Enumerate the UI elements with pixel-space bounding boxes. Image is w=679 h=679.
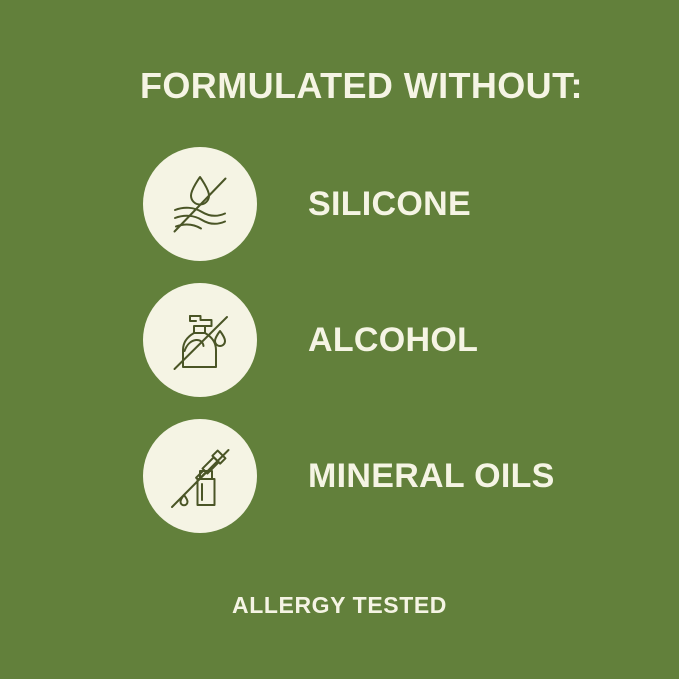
claim-label-mineral-oils: MINERAL OILS (308, 457, 555, 496)
claim-label-alcohol: ALCOHOL (308, 321, 478, 360)
page-title: FORMULATED WITHOUT: (140, 66, 583, 106)
no-silicone-icon (163, 167, 237, 241)
claim-row-silicone: SILICONE (143, 147, 623, 261)
no-mineral-oils-badge (143, 419, 257, 533)
claim-row-alcohol: ALCOHOL (143, 283, 623, 397)
allergy-tested-note: ALLERGY TESTED (0, 592, 679, 619)
claim-row-mineral-oils: MINERAL OILS (143, 419, 623, 533)
no-alcohol-icon (163, 303, 237, 377)
claim-label-silicone: SILICONE (308, 185, 471, 224)
no-silicone-badge (143, 147, 257, 261)
formulated-without-infographic: FORMULATED WITHOUT: SILICONE (0, 0, 679, 679)
no-mineral-oils-icon (163, 439, 237, 513)
no-alcohol-badge (143, 283, 257, 397)
